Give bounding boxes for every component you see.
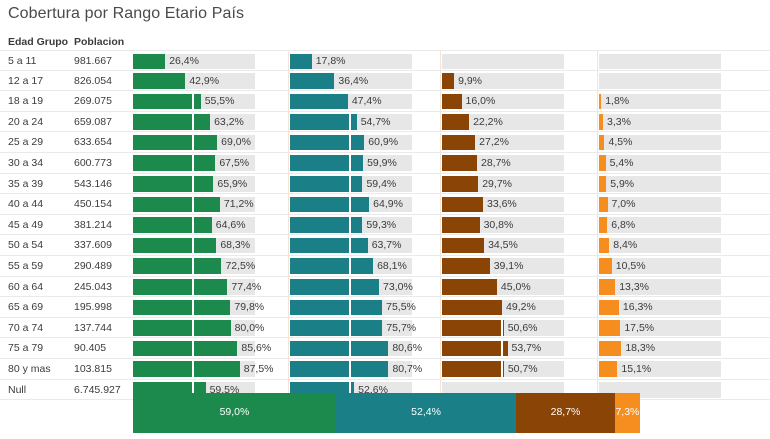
table-row[interactable]: 65 a 69195.99879,8%75,5%49,2%16,3%: [0, 297, 770, 318]
bar-value-label: 16,3%: [623, 301, 653, 313]
bar-fill[interactable]: [133, 73, 185, 89]
bar-fill[interactable]: [290, 217, 362, 233]
column-divider: [440, 91, 441, 111]
bar-pane-1[interactable]: 42,9%: [133, 71, 288, 92]
cell-edad-grupo: 5 a 11: [8, 55, 36, 67]
bar-pane-4[interactable]: 5,4%: [599, 153, 754, 174]
bar-fill[interactable]: [290, 114, 357, 130]
bar-pane-2[interactable]: 17,8%: [290, 51, 440, 72]
bar-value-label: 47,4%: [352, 95, 382, 107]
bar-value-label: 79,8%: [234, 301, 264, 313]
bar-pane-4[interactable]: [599, 51, 754, 72]
bar-fill[interactable]: [599, 258, 612, 274]
bar-fill[interactable]: [599, 94, 601, 110]
column-divider: [440, 256, 441, 276]
bar-pane-4[interactable]: 6,8%: [599, 215, 754, 236]
bar-value-label: 60,9%: [368, 136, 398, 148]
bar-pane-2[interactable]: 59,9%: [290, 153, 440, 174]
bar-fill[interactable]: [133, 176, 213, 192]
bar-pane-2[interactable]: 47,4%: [290, 91, 440, 112]
cell-edad-grupo: 30 a 34: [8, 157, 43, 169]
reference-line: [349, 238, 351, 254]
bar-fill[interactable]: [133, 135, 217, 151]
bar-fill[interactable]: [442, 217, 480, 233]
bar-fill[interactable]: [442, 197, 483, 213]
bar-fill[interactable]: [442, 176, 478, 192]
bar-fill[interactable]: [133, 114, 210, 130]
total-summary-bar: 59,0%52,4%28,7%7,3%: [133, 393, 640, 433]
bar-pane-2[interactable]: 75,5%: [290, 297, 440, 318]
column-divider: [597, 215, 598, 235]
bar-fill[interactable]: [133, 258, 221, 274]
bar-fill[interactable]: [290, 361, 388, 377]
bar-pane-1[interactable]: 69,0%: [133, 132, 288, 153]
reference-line: [192, 361, 194, 377]
bar-value-label: 75,5%: [386, 301, 416, 313]
bar-fill[interactable]: [599, 217, 607, 233]
bar-pane-3[interactable]: 53,7%: [442, 338, 597, 359]
bar-value-label: 50,7%: [508, 363, 538, 375]
column-divider: [440, 153, 441, 173]
bar-pane-4[interactable]: 1,8%: [599, 91, 754, 112]
bar-value-label: 7,0%: [612, 198, 636, 210]
bar-value-label: 55,5%: [205, 95, 235, 107]
reference-line: [192, 300, 194, 316]
bar-fill[interactable]: [290, 238, 368, 254]
bar-value-label: 54,7%: [361, 116, 391, 128]
reference-line: [192, 238, 194, 254]
bar-pane-3[interactable]: 33,6%: [442, 194, 597, 215]
bar-value-label: 63,2%: [214, 116, 244, 128]
bar-value-label: 5,9%: [610, 178, 634, 190]
cell-poblacion: 659.087: [74, 116, 112, 128]
cell-poblacion: 600.773: [74, 157, 112, 169]
column-divider: [288, 318, 289, 338]
bar-value-label: 68,1%: [377, 260, 407, 272]
total-segment-label: 7,3%: [615, 406, 640, 418]
bar-value-label: 9,9%: [458, 75, 482, 87]
bar-value-label: 65,9%: [217, 178, 247, 190]
bar-fill[interactable]: [442, 114, 469, 130]
bar-value-label: 49,2%: [506, 301, 536, 313]
bar-pane-2[interactable]: 36,4%: [290, 71, 440, 92]
column-divider: [288, 277, 289, 297]
bar-track: [442, 54, 564, 70]
column-divider: [288, 91, 289, 111]
bar-fill[interactable]: [133, 300, 230, 316]
column-divider: [597, 132, 598, 152]
cell-edad-grupo: 45 a 49: [8, 219, 43, 231]
column-divider: [597, 338, 598, 358]
cell-poblacion: 103.815: [74, 363, 112, 375]
bar-fill[interactable]: [290, 279, 379, 295]
table-row[interactable]: 20 a 24659.08763,2%54,7%22,2%3,3%: [0, 112, 770, 133]
column-divider: [440, 235, 441, 255]
column-divider: [288, 297, 289, 317]
column-divider: [597, 153, 598, 173]
column-divider: [597, 277, 598, 297]
column-divider: [288, 112, 289, 132]
bar-value-label: 64,6%: [216, 219, 246, 231]
bar-fill[interactable]: [290, 341, 388, 357]
column-divider: [597, 359, 598, 379]
cell-edad-grupo: 20 a 24: [8, 116, 43, 128]
reference-line: [349, 341, 351, 357]
bar-value-label: 3,3%: [607, 116, 631, 128]
bar-pane-4[interactable]: 16,3%: [599, 297, 754, 318]
bar-fill[interactable]: [442, 155, 477, 171]
table-row[interactable]: 45 a 49381.21464,6%59,3%30,8%6,8%: [0, 215, 770, 236]
bar-fill[interactable]: [599, 197, 608, 213]
reference-line: [349, 279, 351, 295]
bar-pane-3[interactable]: 22,2%: [442, 112, 597, 133]
cell-edad-grupo: 35 a 39: [8, 178, 43, 190]
bar-pane-4[interactable]: 13,3%: [599, 277, 754, 298]
bar-pane-2[interactable]: 54,7%: [290, 112, 440, 133]
bar-fill[interactable]: [442, 73, 454, 89]
bar-value-label: 18,3%: [625, 342, 655, 354]
cell-edad-grupo: Null: [8, 384, 26, 396]
bar-pane-3[interactable]: 34,5%: [442, 235, 597, 256]
bar-value-label: 10,5%: [616, 260, 646, 272]
table-row[interactable]: 70 a 74137.74480,0%75,7%50,6%17,5%: [0, 318, 770, 339]
column-divider: [597, 194, 598, 214]
cell-poblacion: 269.075: [74, 95, 112, 107]
bar-fill[interactable]: [442, 300, 502, 316]
bar-pane-4[interactable]: 4,5%: [599, 132, 754, 153]
reference-line: [349, 176, 351, 192]
bar-value-label: 33,6%: [487, 198, 517, 210]
bar-fill[interactable]: [290, 73, 334, 89]
bar-value-label: 45,0%: [501, 281, 531, 293]
reference-line: [349, 361, 351, 377]
cell-poblacion: 826.054: [74, 75, 112, 87]
bar-value-label: 71,2%: [224, 198, 254, 210]
bar-value-label: 30,8%: [484, 219, 514, 231]
bar-pane-3[interactable]: 45,0%: [442, 277, 597, 298]
bar-value-label: 17,8%: [316, 55, 346, 67]
bar-fill[interactable]: [599, 320, 620, 336]
cell-edad-grupo: 65 a 69: [8, 301, 43, 313]
bar-fill[interactable]: [290, 300, 382, 316]
bar-fill[interactable]: [599, 300, 619, 316]
column-divider: [288, 174, 289, 194]
cell-edad-grupo: 70 a 74: [8, 322, 43, 334]
bar-fill[interactable]: [290, 94, 348, 110]
bar-fill[interactable]: [599, 135, 604, 151]
column-divider: [288, 215, 289, 235]
table-row[interactable]: 75 a 7990.40585,6%80,6%53,7%18,3%: [0, 338, 770, 359]
bar-pane-4[interactable]: 3,3%: [599, 112, 754, 133]
bar-fill[interactable]: [133, 361, 240, 377]
column-divider: [597, 174, 598, 194]
bar-pane-3[interactable]: 50,7%: [442, 359, 597, 380]
bar-value-label: 6,8%: [611, 219, 635, 231]
table-row[interactable]: 60 a 64245.04377,4%73,0%45,0%13,3%: [0, 277, 770, 298]
bar-value-label: 26,4%: [169, 55, 199, 67]
reference-line: [501, 361, 503, 377]
bar-value-label: 22,2%: [473, 116, 503, 128]
bar-fill[interactable]: [290, 135, 364, 151]
bar-fill[interactable]: [442, 258, 490, 274]
bar-value-label: 5,4%: [610, 157, 634, 169]
bar-pane-4[interactable]: 5,9%: [599, 174, 754, 195]
column-divider: [288, 132, 289, 152]
reference-line: [192, 197, 194, 213]
bar-pane-3[interactable]: 30,8%: [442, 215, 597, 236]
cell-poblacion: 381.214: [74, 219, 112, 231]
bar-fill[interactable]: [133, 54, 165, 70]
reference-line: [501, 320, 503, 336]
reference-line: [192, 279, 194, 295]
column-divider: [440, 277, 441, 297]
bar-pane-3[interactable]: 28,7%: [442, 153, 597, 174]
bar-value-label: 8,4%: [613, 239, 637, 251]
bar-pane-3[interactable]: 9,9%: [442, 71, 597, 92]
cell-edad-grupo: 60 a 64: [8, 281, 43, 293]
bar-fill[interactable]: [599, 238, 609, 254]
column-divider: [440, 194, 441, 214]
reference-line: [349, 300, 351, 316]
bar-fill[interactable]: [442, 341, 508, 357]
total-segment-1[interactable]: 59,0%: [133, 393, 336, 433]
bar-pane-3[interactable]: 50,6%: [442, 318, 597, 339]
cell-edad-grupo: 40 a 44: [8, 198, 43, 210]
bar-fill[interactable]: [442, 94, 462, 110]
page-title: Cobertura por Rango Etario País: [8, 5, 244, 23]
bar-value-label: 17,5%: [624, 322, 654, 334]
cell-poblacion: 90.405: [74, 342, 106, 354]
reference-line: [349, 258, 351, 274]
bar-pane-3[interactable]: [442, 51, 597, 72]
bar-pane-4[interactable]: 10,5%: [599, 256, 754, 277]
bar-track: [599, 279, 721, 295]
cell-edad-grupo: 75 a 79: [8, 342, 43, 354]
reference-line: [192, 155, 194, 171]
bar-value-label: 69,0%: [221, 136, 251, 148]
bar-fill[interactable]: [599, 341, 621, 357]
bar-fill[interactable]: [290, 176, 362, 192]
bar-pane-1[interactable]: 87,5%: [133, 359, 288, 380]
column-divider: [597, 297, 598, 317]
bar-pane-3[interactable]: 49,2%: [442, 297, 597, 318]
bar-pane-1[interactable]: 68,3%: [133, 235, 288, 256]
bar-fill[interactable]: [290, 155, 363, 171]
column-divider: [597, 112, 598, 132]
bar-pane-1[interactable]: 71,2%: [133, 194, 288, 215]
bar-fill[interactable]: [133, 155, 215, 171]
bar-value-label: 59,3%: [366, 219, 396, 231]
column-divider: [288, 51, 289, 70]
total-segment-label: 59,0%: [133, 406, 336, 418]
bar-value-label: 67,5%: [219, 157, 249, 169]
bar-fill[interactable]: [290, 320, 382, 336]
bar-fill[interactable]: [290, 197, 369, 213]
column-divider: [288, 359, 289, 379]
bar-pane-3[interactable]: 27,2%: [442, 132, 597, 153]
cell-poblacion: 450.154: [74, 198, 112, 210]
bar-pane-4[interactable]: 15,1%: [599, 359, 754, 380]
bar-pane-2[interactable]: 68,1%: [290, 256, 440, 277]
bar-pane-1[interactable]: 72,5%: [133, 256, 288, 277]
cell-poblacion: 543.146: [74, 178, 112, 190]
cell-poblacion: 981.667: [74, 55, 112, 67]
cell-poblacion: 195.998: [74, 301, 112, 313]
table-row[interactable]: 30 a 34600.77367,5%59,9%28,7%5,4%: [0, 153, 770, 174]
cell-edad-grupo: 80 y mas: [8, 363, 51, 375]
reference-line: [501, 341, 503, 357]
bar-value-label: 29,7%: [482, 178, 512, 190]
bar-pane-2[interactable]: 73,0%: [290, 277, 440, 298]
bar-value-label: 1,8%: [605, 95, 629, 107]
bar-pane-1[interactable]: 67,5%: [133, 153, 288, 174]
table-row[interactable]: 18 a 19269.07555,5%47,4%16,0%1,8%: [0, 91, 770, 112]
bar-pane-2[interactable]: 63,7%: [290, 235, 440, 256]
table-row[interactable]: 55 a 59290.48972,5%68,1%39,1%10,5%: [0, 256, 770, 277]
column-divider: [440, 215, 441, 235]
table-row[interactable]: 5 a 11981.66726,4%17,8%: [0, 50, 770, 71]
cell-edad-grupo: 55 a 59: [8, 260, 43, 272]
bar-fill[interactable]: [290, 258, 373, 274]
bar-fill[interactable]: [133, 320, 231, 336]
column-divider: [440, 132, 441, 152]
column-divider: [597, 51, 598, 70]
cell-poblacion: 245.043: [74, 281, 112, 293]
column-divider: [597, 318, 598, 338]
bar-pane-2[interactable]: 80,6%: [290, 338, 440, 359]
bar-fill[interactable]: [599, 155, 606, 171]
bar-value-label: 42,9%: [189, 75, 219, 87]
bar-fill[interactable]: [442, 279, 497, 295]
column-divider: [440, 338, 441, 358]
reference-line: [349, 217, 351, 233]
reference-line: [192, 114, 194, 130]
bar-value-label: 4,5%: [608, 136, 632, 148]
bar-fill[interactable]: [599, 279, 615, 295]
bar-pane-1[interactable]: 63,2%: [133, 112, 288, 133]
bar-value-label: 39,1%: [494, 260, 524, 272]
total-segment-3[interactable]: 28,7%: [516, 393, 615, 433]
cell-edad-grupo: 25 a 29: [8, 136, 43, 148]
reference-line: [192, 341, 194, 357]
bar-pane-1[interactable]: 85,6%: [133, 338, 288, 359]
bar-value-label: 64,9%: [373, 198, 403, 210]
bar-pane-3[interactable]: 16,0%: [442, 91, 597, 112]
bar-fill[interactable]: [442, 135, 475, 151]
bar-fill[interactable]: [442, 238, 484, 254]
total-segment-label: 52,4%: [336, 406, 516, 418]
reference-line: [349, 135, 351, 151]
column-divider: [440, 112, 441, 132]
reference-line: [192, 217, 194, 233]
bar-pane-4[interactable]: [599, 71, 754, 92]
table-row[interactable]: 25 a 29633.65469,0%60,9%27,2%4,5%: [0, 132, 770, 153]
bar-pane-3[interactable]: 39,1%: [442, 256, 597, 277]
bar-value-label: 36,4%: [338, 75, 368, 87]
total-segment-2[interactable]: 52,4%: [336, 393, 516, 433]
column-divider: [288, 338, 289, 358]
bar-pane-1[interactable]: 65,9%: [133, 174, 288, 195]
bar-value-label: 75,7%: [386, 322, 416, 334]
bar-fill[interactable]: [133, 341, 237, 357]
column-divider: [440, 71, 441, 91]
table-row[interactable]: 50 a 54337.60968,3%63,7%34,5%8,4%: [0, 235, 770, 256]
bar-pane-1[interactable]: 55,5%: [133, 91, 288, 112]
column-header-edad-grupo: Edad Grupo: [8, 36, 68, 51]
bar-value-label: 59,4%: [366, 178, 396, 190]
bar-fill[interactable]: [599, 114, 603, 130]
column-divider: [597, 71, 598, 91]
column-divider: [288, 194, 289, 214]
bar-value-label: 53,7%: [512, 342, 542, 354]
table-row[interactable]: 80 y mas103.81587,5%80,7%50,7%15,1%: [0, 359, 770, 380]
bar-pane-2[interactable]: 64,9%: [290, 194, 440, 215]
bar-pane-2[interactable]: 59,4%: [290, 174, 440, 195]
bar-fill[interactable]: [133, 197, 220, 213]
bar-value-label: 85,6%: [241, 342, 271, 354]
bar-pane-1[interactable]: 80,0%: [133, 318, 288, 339]
bar-pane-4[interactable]: 8,4%: [599, 235, 754, 256]
table-row[interactable]: 35 a 39543.14665,9%59,4%29,7%5,9%: [0, 174, 770, 195]
bar-value-label: 73,0%: [383, 281, 413, 293]
total-segment-4[interactable]: 7,3%: [615, 393, 640, 433]
bar-pane-1[interactable]: 77,4%: [133, 277, 288, 298]
bar-fill[interactable]: [133, 217, 212, 233]
bar-pane-4[interactable]: 18,3%: [599, 338, 754, 359]
reference-line: [192, 94, 194, 110]
table-row[interactable]: 12 a 17826.05442,9%36,4%9,9%: [0, 71, 770, 92]
bar-pane-3[interactable]: 29,7%: [442, 174, 597, 195]
bar-value-label: 34,5%: [488, 239, 518, 251]
reference-line: [349, 197, 351, 213]
bar-pane-1[interactable]: 79,8%: [133, 297, 288, 318]
bar-pane-2[interactable]: 60,9%: [290, 132, 440, 153]
column-divider: [597, 235, 598, 255]
bar-value-label: 80,6%: [392, 342, 422, 354]
column-divider: [597, 91, 598, 111]
column-divider: [440, 174, 441, 194]
bar-value-label: 68,3%: [220, 239, 250, 251]
bar-pane-1[interactable]: 64,6%: [133, 215, 288, 236]
bar-fill[interactable]: [133, 238, 216, 254]
bar-fill[interactable]: [599, 176, 606, 192]
bar-pane-2[interactable]: 59,3%: [290, 215, 440, 236]
table-row[interactable]: 40 a 44450.15471,2%64,9%33,6%7,0%: [0, 194, 770, 215]
cell-edad-grupo: 18 a 19: [8, 95, 43, 107]
bar-pane-2[interactable]: 75,7%: [290, 318, 440, 339]
reference-line: [192, 320, 194, 336]
bar-fill[interactable]: [442, 361, 504, 377]
reference-line: [349, 114, 351, 130]
bar-value-label: 13,3%: [619, 281, 649, 293]
bar-fill[interactable]: [133, 279, 227, 295]
bar-pane-4[interactable]: 17,5%: [599, 318, 754, 339]
bar-pane-1[interactable]: 26,4%: [133, 51, 288, 72]
reference-line: [349, 320, 351, 336]
column-divider: [288, 153, 289, 173]
bar-fill[interactable]: [599, 361, 617, 377]
column-divider: [440, 318, 441, 338]
bar-value-label: 77,4%: [231, 281, 261, 293]
bar-value-label: 15,1%: [621, 363, 651, 375]
reference-line: [192, 258, 194, 274]
column-divider: [597, 256, 598, 276]
bar-fill[interactable]: [442, 320, 504, 336]
bar-fill[interactable]: [290, 54, 312, 70]
bar-pane-4[interactable]: 7,0%: [599, 194, 754, 215]
bar-pane-2[interactable]: 80,7%: [290, 359, 440, 380]
cell-poblacion: 137.744: [74, 322, 112, 334]
